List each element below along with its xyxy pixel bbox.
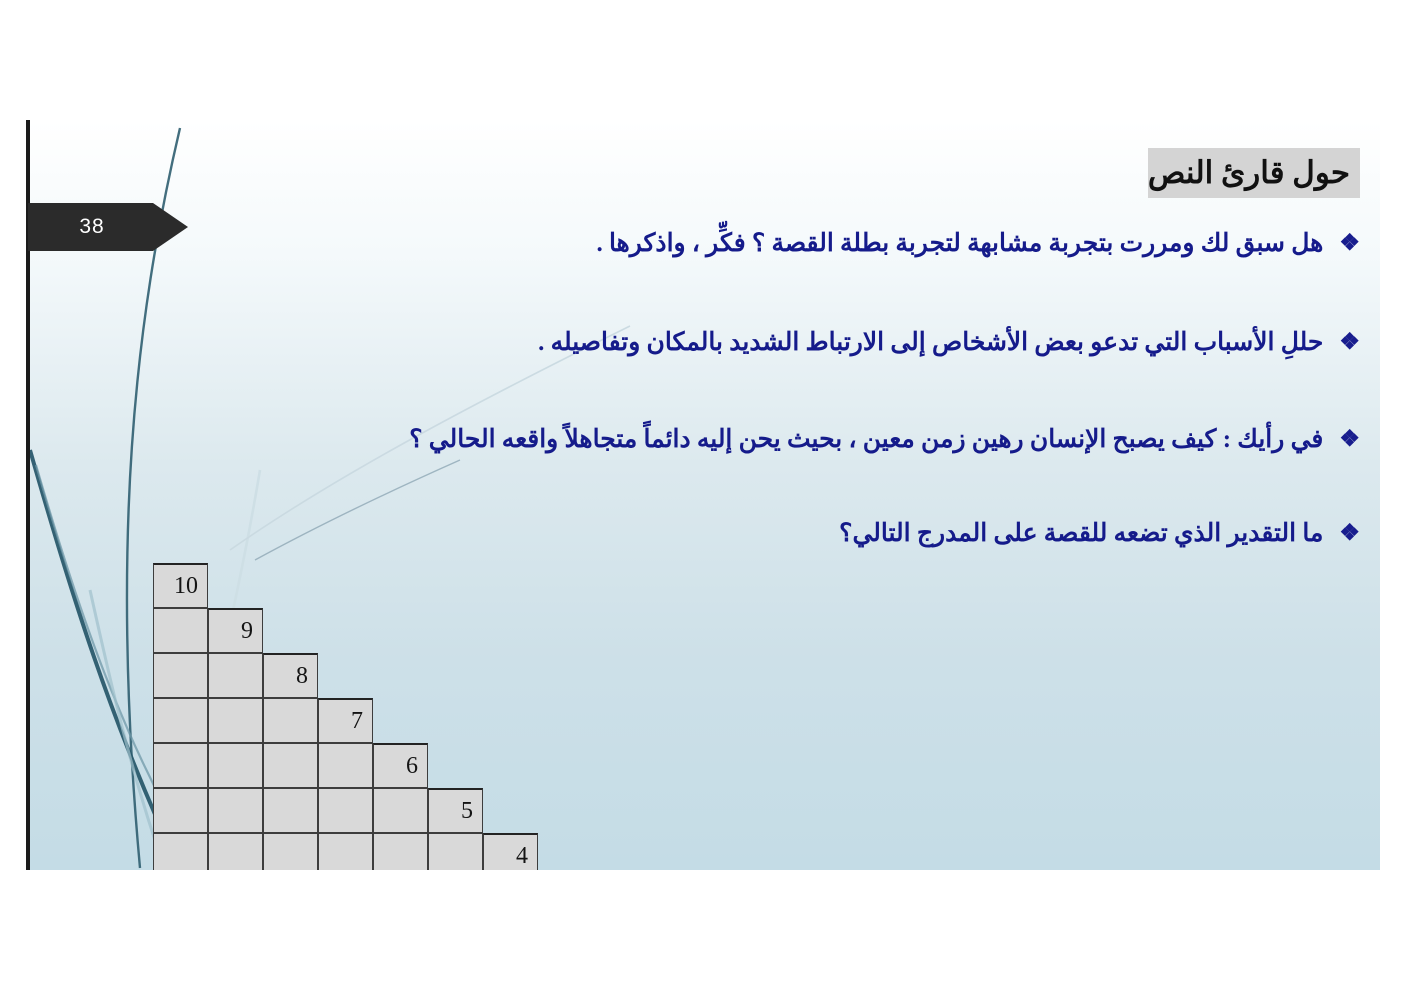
stair-cell[interactable]	[153, 653, 208, 698]
stair-cell[interactable]	[428, 833, 483, 870]
stair-cell-label: 9	[241, 614, 253, 648]
question-item-3: ❖ في رأيك : كيف يصبح الإنسان رهين زمن مع…	[409, 424, 1360, 456]
slide-page: 10 9 8	[0, 0, 1403, 992]
stair-cell-label: 10	[174, 569, 198, 603]
stair-cell[interactable]	[263, 833, 318, 870]
stair-cell[interactable]	[318, 833, 373, 870]
stair-cell[interactable]	[208, 653, 263, 698]
stair-cell[interactable]	[263, 698, 318, 743]
stair-cell[interactable]	[153, 833, 208, 870]
stair-cell[interactable]	[153, 698, 208, 743]
page-number-label: 38	[28, 203, 156, 251]
section-heading-label: حول قارئ النص	[1148, 150, 1350, 196]
stair-cell[interactable]	[208, 788, 263, 833]
stair-cell[interactable]: 8	[263, 653, 318, 698]
stair-cell[interactable]: 5	[428, 788, 483, 833]
question-text: ما التقدير الذي تضعه للقصة على المدرج ال…	[839, 518, 1323, 550]
stair-cell-label: 4	[516, 839, 528, 870]
stair-cell[interactable]	[153, 608, 208, 653]
section-heading: حول قارئ النص	[1148, 148, 1360, 198]
stair-cell[interactable]	[318, 743, 373, 788]
stair-cell[interactable]	[373, 788, 428, 833]
stair-cell[interactable]	[208, 833, 263, 870]
stair-cell-label: 8	[296, 659, 308, 693]
page-number-banner: 38	[28, 203, 188, 251]
stair-cell[interactable]: 9	[208, 608, 263, 653]
stair-cell[interactable]	[153, 788, 208, 833]
question-item-4: ❖ ما التقدير الذي تضعه للقصة على المدرج …	[839, 518, 1360, 550]
stair-cell[interactable]: 10	[153, 563, 208, 608]
stair-cell-label: 6	[406, 749, 418, 783]
question-text: هل سبق لك ومررت بتجربة مشابهة لتجربة بطل…	[596, 228, 1323, 260]
stair-cell[interactable]	[263, 788, 318, 833]
stair-cell[interactable]: 4	[483, 833, 538, 870]
stair-cell-label: 7	[351, 704, 363, 738]
stair-cell[interactable]	[263, 743, 318, 788]
diamond-bullet-icon: ❖	[1339, 228, 1360, 258]
stair-cell[interactable]	[208, 698, 263, 743]
question-text: حللِ الأسباب التي تدعو بعض الأشخاص إلى ا…	[538, 327, 1323, 359]
diamond-bullet-icon: ❖	[1339, 327, 1360, 357]
stair-cell[interactable]	[373, 833, 428, 870]
question-item-2: ❖ حللِ الأسباب التي تدعو بعض الأشخاص إلى…	[538, 327, 1360, 359]
question-item-1: ❖ هل سبق لك ومررت بتجربة مشابهة لتجربة ب…	[596, 228, 1360, 260]
stair-cell[interactable]: 7	[318, 698, 373, 743]
question-text: في رأيك : كيف يصبح الإنسان رهين زمن معين…	[409, 424, 1323, 456]
stair-cell[interactable]	[208, 743, 263, 788]
stair-cell[interactable]	[318, 788, 373, 833]
stair-cell-label: 5	[461, 794, 473, 828]
diamond-bullet-icon: ❖	[1339, 424, 1360, 454]
diamond-bullet-icon: ❖	[1339, 518, 1360, 548]
stair-cell[interactable]	[153, 743, 208, 788]
stair-cell[interactable]: 6	[373, 743, 428, 788]
